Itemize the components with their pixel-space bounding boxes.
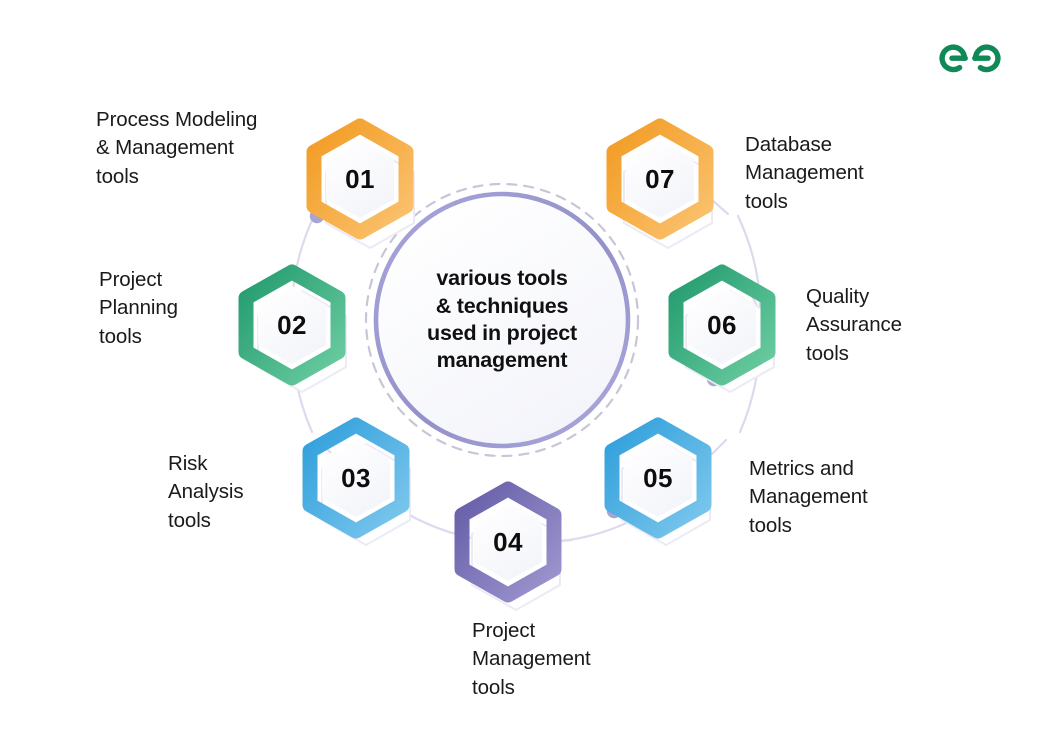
caption-01-line-1: Process Modeling [96, 106, 311, 134]
caption-05-line-1: Metrics and [749, 455, 949, 483]
caption-node-02: Project Planning tools [99, 266, 249, 351]
caption-node-04: Project Management tools [472, 617, 672, 702]
center-label: various tools & techniques used in proje… [382, 250, 622, 390]
caption-07-line-2: Management [745, 159, 935, 187]
caption-06-line-3: tools [806, 340, 966, 368]
caption-03-line-1: Risk [168, 450, 318, 478]
caption-node-06: Quality Assurance tools [806, 283, 966, 368]
center-line-4: management [427, 347, 577, 374]
caption-01-line-2: & Management [96, 134, 311, 162]
caption-node-07: Database Management tools [745, 131, 935, 216]
caption-05-line-2: Management [749, 483, 949, 511]
caption-node-01: Process Modeling & Management tools [96, 106, 311, 191]
caption-02-line-2: Planning [99, 294, 249, 322]
caption-02-line-1: Project [99, 266, 249, 294]
center-line-3: used in project [427, 320, 577, 347]
caption-node-03: Risk Analysis tools [168, 450, 318, 535]
caption-03-line-2: Analysis [168, 478, 318, 506]
caption-02-line-3: tools [99, 323, 249, 351]
caption-04-line-3: tools [472, 674, 672, 702]
node-number-02: 02 [247, 302, 337, 348]
caption-07-line-3: tools [745, 188, 935, 216]
caption-06-line-1: Quality [806, 283, 966, 311]
node-number-06: 06 [677, 302, 767, 348]
node-number-04: 04 [463, 519, 553, 565]
caption-06-line-2: Assurance [806, 311, 966, 339]
infographic-canvas: various tools & techniques used in proje… [0, 0, 1043, 746]
caption-07-line-1: Database [745, 131, 935, 159]
caption-03-line-3: tools [168, 507, 318, 535]
node-number-01: 01 [315, 156, 405, 202]
caption-node-05: Metrics and Management tools [749, 455, 949, 540]
center-line-1: various tools [427, 265, 577, 292]
caption-04-line-2: Management [472, 645, 672, 673]
caption-01-line-3: tools [96, 163, 311, 191]
center-line-2: & techniques [427, 293, 577, 320]
node-number-03: 03 [311, 455, 401, 501]
node-number-07: 07 [615, 156, 705, 202]
caption-05-line-3: tools [749, 512, 949, 540]
node-number-05: 05 [613, 455, 703, 501]
caption-04-line-1: Project [472, 617, 672, 645]
